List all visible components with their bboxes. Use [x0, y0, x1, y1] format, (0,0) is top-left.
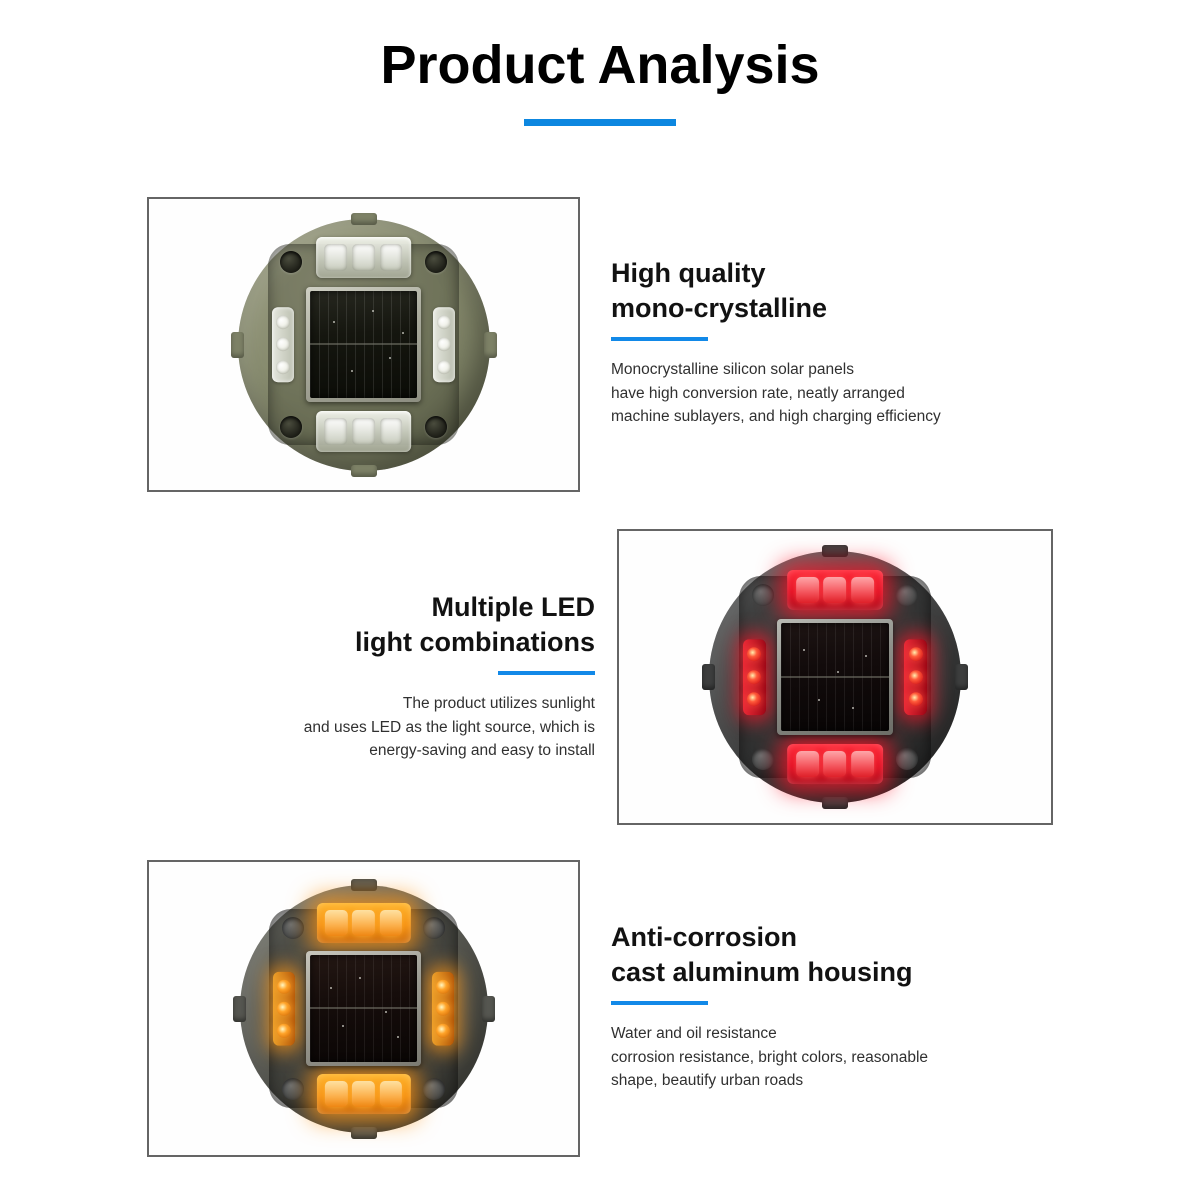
led-module-left	[272, 307, 295, 383]
mount-tab-right	[955, 664, 968, 690]
feature-accent-rule	[611, 1001, 708, 1005]
led-lens-cell	[851, 577, 874, 604]
led-lens-cell	[796, 577, 819, 604]
mount-tab-top	[351, 879, 377, 891]
mount-tab-left	[233, 996, 246, 1022]
led-module-top	[316, 903, 410, 943]
led-module-top	[787, 570, 883, 610]
led-dot	[436, 980, 450, 994]
screw-bottom-left	[282, 1078, 304, 1100]
product-image-frame-2	[617, 529, 1053, 825]
screw-bottom-right	[423, 1078, 445, 1100]
led-lens-cell	[352, 910, 374, 936]
mount-tab-bottom	[351, 465, 377, 477]
led-module-left	[743, 639, 766, 715]
feature-body: The product utilizes sunlight and uses L…	[185, 692, 595, 763]
led-lens-cell	[325, 910, 347, 936]
feature-block-anti-corrosion-cast-aluminum-housing: Anti-corrosion cast aluminum housing Wat…	[611, 920, 1081, 1093]
screw-bottom-left	[280, 416, 302, 438]
led-dot	[909, 648, 923, 662]
led-module-right	[904, 639, 927, 715]
led-module-bottom	[787, 744, 883, 784]
led-module-right	[432, 971, 454, 1045]
led-lens-cell	[352, 244, 375, 271]
solar-panel-bezel	[306, 287, 422, 403]
led-dot	[437, 337, 451, 351]
led-lens-cell	[352, 1081, 374, 1107]
led-dot	[277, 980, 291, 994]
led-dot	[747, 648, 761, 662]
product-image-frame-3	[147, 860, 580, 1157]
monocrystalline-solar-panel	[310, 291, 418, 399]
mount-tab-top	[822, 545, 848, 557]
solar-panel-bezel	[306, 951, 420, 1065]
led-module-bottom	[316, 411, 412, 451]
mount-tab-top	[351, 213, 377, 225]
product-analysis-page: Product Analysis	[0, 0, 1200, 1200]
feature-block-high-quality-mono-crystalline: High quality mono-crystalline Monocrysta…	[611, 256, 1081, 429]
led-dot	[436, 1024, 450, 1038]
solar-road-stud-olive	[238, 219, 490, 471]
led-module-bottom	[316, 1074, 410, 1114]
mount-tab-left	[231, 332, 244, 358]
feature-accent-rule	[498, 671, 595, 675]
led-lens-cell	[324, 418, 347, 445]
screw-bottom-left	[752, 748, 774, 770]
screw-top-left	[280, 251, 302, 273]
monocrystalline-solar-panel	[310, 955, 416, 1061]
feature-heading: Multiple LED light combinations	[185, 590, 595, 659]
feature-accent-rule	[611, 337, 708, 341]
led-dot	[747, 692, 761, 706]
feature-body: Monocrystalline silicon solar panels hav…	[611, 358, 1081, 429]
screw-top-right	[425, 251, 447, 273]
led-dot	[276, 337, 290, 351]
led-lens-cell	[796, 751, 819, 778]
page-header: Product Analysis	[0, 34, 1200, 96]
mount-tab-right	[482, 996, 495, 1022]
feature-heading: Anti-corrosion cast aluminum housing	[611, 920, 1081, 989]
screw-top-left	[752, 584, 774, 606]
led-lens-cell	[851, 751, 874, 778]
led-dot	[277, 1002, 291, 1016]
feature-body: Water and oil resistance corrosion resis…	[611, 1022, 1081, 1093]
led-module-left	[273, 971, 295, 1045]
mount-tab-left	[702, 664, 715, 690]
solar-road-stud-amber	[240, 885, 488, 1133]
solar-road-stud-red	[709, 551, 961, 803]
title-accent-rule	[524, 119, 676, 126]
led-module-right	[433, 307, 456, 383]
led-lens-cell	[352, 418, 375, 445]
led-lens-cell	[824, 751, 847, 778]
led-dot	[437, 315, 451, 329]
led-dot	[909, 692, 923, 706]
monocrystalline-solar-panel	[781, 623, 889, 731]
mount-tab-bottom	[351, 1127, 377, 1139]
solar-panel-bezel	[777, 619, 893, 735]
led-module-top	[316, 237, 412, 277]
led-dot	[747, 670, 761, 684]
product-photo-amber	[149, 862, 578, 1155]
led-lens-cell	[379, 1081, 401, 1107]
led-dot	[276, 315, 290, 329]
led-dot	[277, 1024, 291, 1038]
product-photo-red	[619, 531, 1051, 823]
led-lens-cell	[824, 577, 847, 604]
feature-heading: High quality mono-crystalline	[611, 256, 1081, 325]
led-lens-cell	[325, 1081, 347, 1107]
led-lens-cell	[324, 244, 347, 271]
led-dot	[436, 1002, 450, 1016]
led-dot	[909, 670, 923, 684]
product-image-frame-1	[147, 197, 580, 492]
led-lens-cell	[379, 910, 401, 936]
page-title: Product Analysis	[0, 34, 1200, 96]
led-dot	[437, 360, 451, 374]
led-lens-cell	[380, 244, 403, 271]
led-dot	[276, 360, 290, 374]
screw-top-right	[423, 917, 445, 939]
mount-tab-right	[484, 332, 497, 358]
feature-block-multiple-led-light-combinations: Multiple LED light combinations The prod…	[185, 590, 595, 763]
product-photo-olive	[149, 199, 578, 490]
led-lens-cell	[380, 418, 403, 445]
mount-tab-bottom	[822, 797, 848, 809]
screw-top-right	[896, 584, 918, 606]
